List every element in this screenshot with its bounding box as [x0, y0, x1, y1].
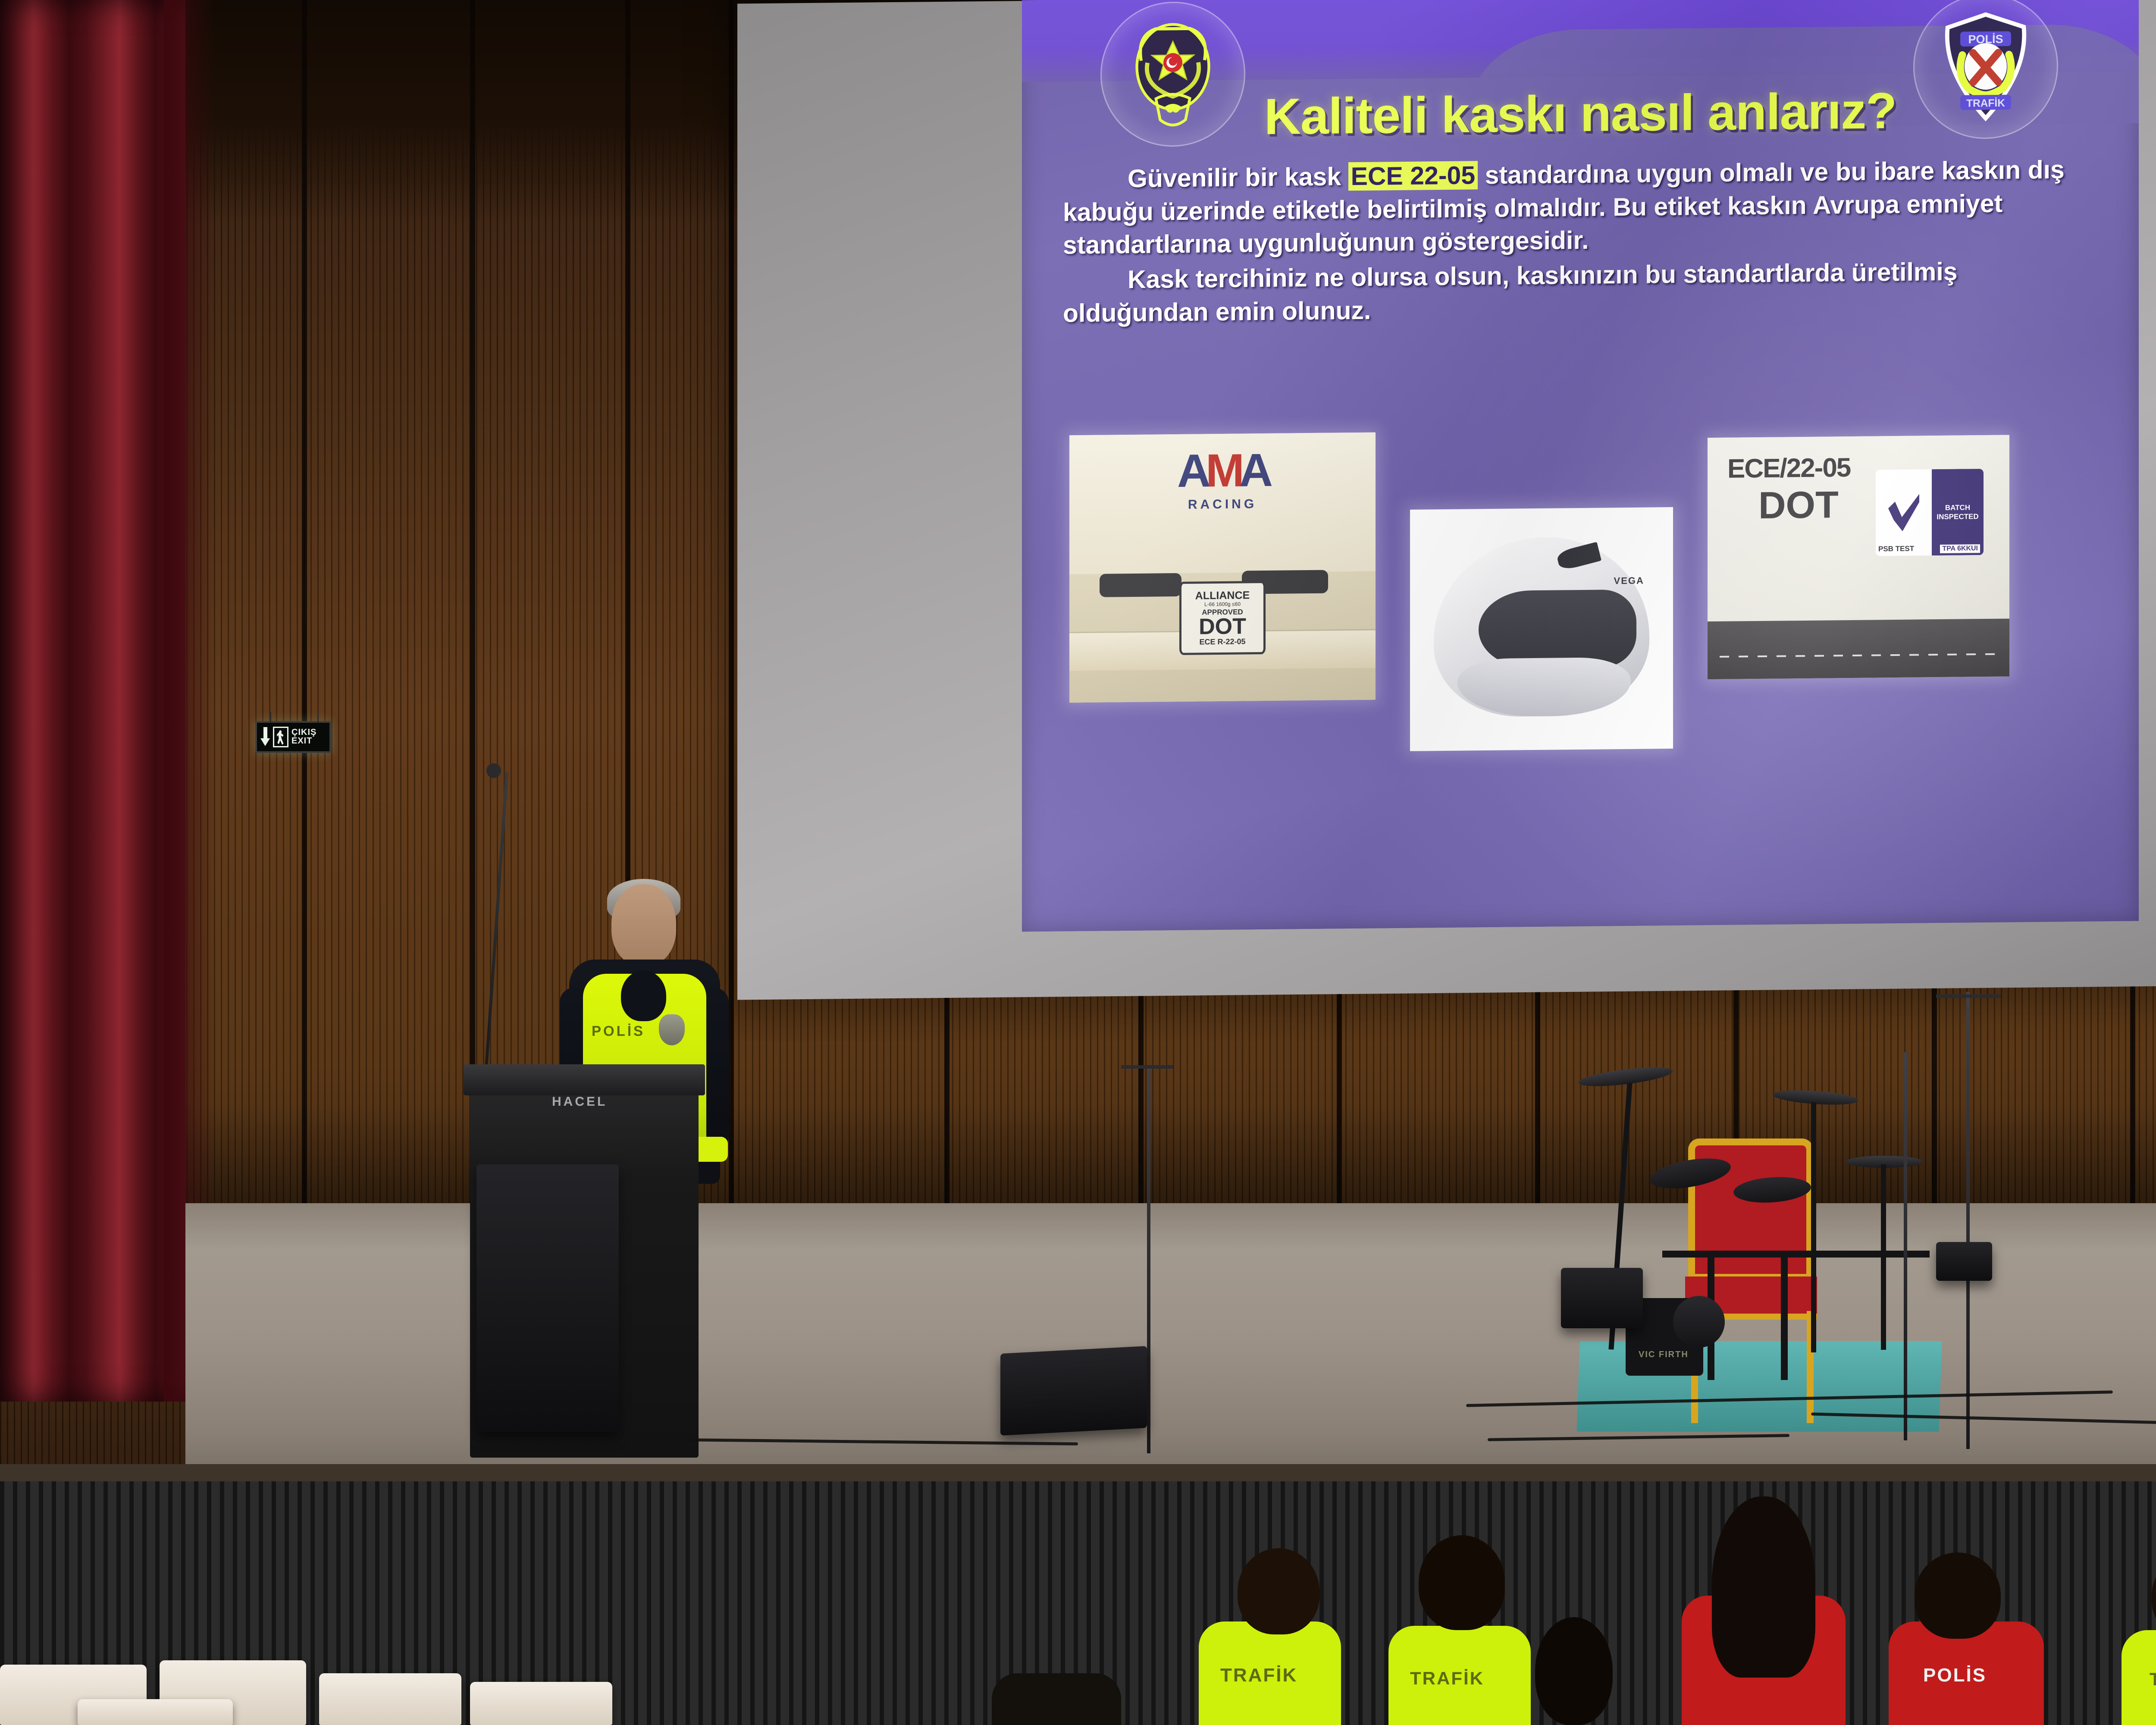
exit-sign-text: ÇIKIŞ EXIT: [291, 728, 317, 745]
mic-boom-arm: [1936, 994, 2001, 998]
audience-head: [1238, 1548, 1319, 1634]
drum-rack-bar: [1662, 1251, 1930, 1258]
audience-head: [1712, 1496, 1815, 1678]
drum-rack-leg: [1781, 1251, 1788, 1380]
presentation-slide: POLİS TRAFİK Kaliteli kaskı nasıl anları…: [1022, 0, 2139, 931]
exit-text-en: EXIT: [291, 737, 317, 746]
audience-polis-label: POLİS: [1923, 1665, 1987, 1686]
para2-text: Kask tercihiniz ne olursa olsun, kaskını…: [1063, 257, 1958, 328]
equipment-case: [1561, 1268, 1643, 1328]
ama-logo-letters: AMA: [1177, 443, 1268, 498]
ece-highlight: ECE 22-05: [1348, 161, 1478, 191]
helmet-edge-trim: [1708, 618, 2009, 679]
slide-paragraph-2: Kask tercihiniz ne olursa olsun, kaskını…: [1063, 254, 2098, 330]
psb-batch-sticker: BATCH INSPECTED PSB TEST TPA 6KKUI: [1876, 469, 1984, 556]
podium-microphone-head: [486, 763, 501, 778]
photo-scene: ÇIKIŞ EXIT: [0, 0, 2156, 1725]
slide-body-text: Güvenilir bir kask ECE 22-05 standardına…: [1063, 153, 2098, 331]
mic-stand: [1966, 992, 1970, 1449]
running-person-icon: [273, 727, 288, 747]
stick-bag-brand: VIC FIRTH: [1639, 1350, 1689, 1360]
sticker-spec: L-66 1600g ≤60: [1181, 601, 1263, 608]
down-arrow-icon: [260, 727, 270, 747]
checkmark-icon: [1888, 494, 1919, 531]
presenter-collar: [621, 970, 666, 1021]
stage-curtain: [0, 0, 185, 1402]
psb-inspected: INSPECTED: [1937, 512, 1978, 521]
dot-approval-sticker: ALLIANCE L-66 1600g ≤60 APPROVED DOT ECE…: [1179, 581, 1266, 655]
podium-desktop: [464, 1064, 705, 1095]
mic-boom-arm: [1121, 1065, 1173, 1069]
ece-dot-marking-photo: ECE/22-05 DOT BATCH INSPECTED PSB TEST T…: [1708, 435, 2009, 679]
slide-paragraph-1: Güvenilir bir kask ECE 22-05 standardına…: [1063, 153, 2098, 262]
audience-trafik-label: TRAFİK: [2150, 1669, 2156, 1690]
helmet-visor: [1479, 590, 1636, 668]
presenter-head: [611, 884, 676, 966]
para1-before: Güvenilir bir kask: [1128, 162, 1348, 193]
exit-sign-hanger: [270, 712, 271, 723]
ece-2205-text: ECE/22-05: [1727, 455, 1850, 481]
helmet-brand-label: VEGA: [1614, 575, 1644, 586]
audience-head: [1419, 1535, 1505, 1630]
audience-member-jacket: [992, 1673, 1121, 1725]
cymbal-stand: [1811, 1102, 1816, 1352]
exit-sign: ÇIKIŞ EXIT: [255, 721, 331, 753]
sticker-dot: DOT: [1181, 616, 1263, 638]
ama-racing-word: RACING: [1177, 497, 1268, 512]
ama-racing-helmet-photo: AMA RACING ALLIANCE L-66 1600g ≤60 APPRO…: [1069, 433, 1376, 703]
white-modular-helmet-photo: VEGA: [1410, 507, 1673, 751]
dot-text: DOT: [1758, 487, 1839, 523]
stage-monitor-speaker: [476, 1164, 619, 1432]
psb-test-caption: PSB TEST: [1878, 545, 1914, 554]
ama-racing-logo: AMA RACING: [1177, 443, 1268, 512]
curtain-shadow-edge: [164, 0, 216, 1402]
audience-head: [1915, 1552, 2001, 1639]
audience-seat: [470, 1682, 612, 1725]
slide-title: Kaliteli kaskı nasıl anlarız?: [1022, 79, 2139, 149]
sticker-alliance: ALLIANCE: [1181, 590, 1263, 602]
vest-shoulder-badge: [659, 1014, 685, 1045]
mic-stand: [1904, 1052, 1907, 1440]
psb-brand-tag: TPA 6KKUI: [1940, 544, 1980, 553]
audience-trafik-label: TRAFİK: [1410, 1668, 1484, 1689]
stage-monitor-speaker: [1000, 1346, 1147, 1436]
audience-trafik-label: TRAFİK: [1220, 1665, 1297, 1686]
audience-seat: [78, 1699, 233, 1725]
mic-stand: [1147, 1065, 1150, 1453]
psb-batch: BATCH: [1945, 503, 1970, 512]
vest-polis-label: POLİS: [592, 1023, 645, 1039]
floor-wedge: [1936, 1242, 1992, 1281]
exit-sign-hanger: [317, 712, 319, 723]
slide-photo-row: AMA RACING ALLIANCE L-66 1600g ≤60 APPRO…: [1022, 425, 2139, 790]
podium-brand-label: HACEL: [552, 1095, 607, 1109]
audience-seat: [319, 1673, 461, 1725]
audience-head: [1535, 1617, 1613, 1725]
sticker-ece: ECE R-22-05: [1181, 637, 1263, 646]
kick-pad: [1673, 1296, 1725, 1348]
